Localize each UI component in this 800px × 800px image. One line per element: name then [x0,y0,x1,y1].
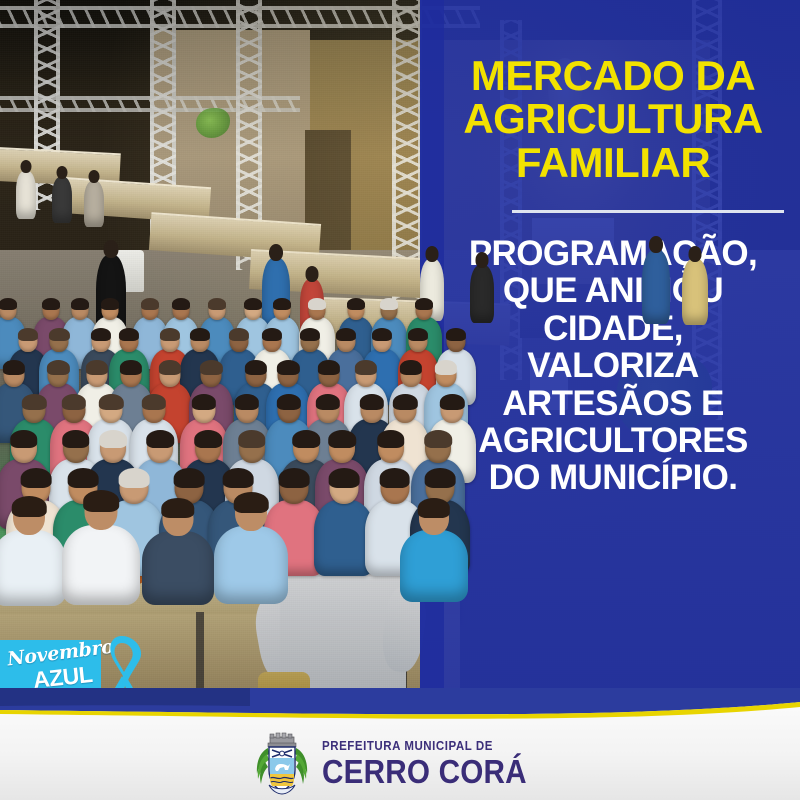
person-hair [194,430,222,448]
person-hair [415,298,433,310]
person-hair [141,298,159,310]
person-hair [200,360,222,375]
text-panel-content: MERCADO DAAGRICULTURAFAMILIAR PROGRAMAÇÃ… [420,0,800,712]
person-hair [347,298,365,310]
person-hair [91,328,111,341]
person-hair [119,360,141,375]
person-hair [262,328,282,341]
person-hair [3,360,25,375]
person-hair [355,360,377,375]
person-hair [0,298,17,310]
person-hair [100,430,128,448]
poster-root: MERCADO DAAGRICULTURAFAMILIAR PROGRAMAÇÃ… [0,0,800,800]
person-hair [418,498,450,518]
person-hair [234,492,269,513]
person-hair [68,468,99,488]
title-line-3: FAMILIAR [442,141,784,184]
person-torso [0,530,66,606]
person-hair [119,468,150,488]
body-line-6: AGRICULTORES [442,422,784,459]
market-visitor [682,246,708,325]
person-torso [142,531,214,605]
market-visitor [52,166,72,223]
person-hair [277,394,301,410]
person-hair [191,394,215,410]
person-hair [172,298,190,310]
logo-line-1: PREFEITURA MUNICIPAL DE [322,740,531,753]
person-hair [71,298,89,310]
person-hair [300,328,320,341]
person-hair [377,430,405,448]
front-row-person [400,500,468,602]
person-hair [119,328,139,341]
person-hair [22,394,46,410]
person-head [689,246,702,262]
body-line-7: DO MUNICÍPIO. [442,459,784,496]
person-torso [62,525,140,605]
person-hair [208,298,226,310]
front-row-person [214,494,288,604]
person-hair [18,328,38,341]
person-hair [47,360,69,375]
title-line-1: MERCADO DA [442,54,784,97]
person-hair [161,498,194,518]
person-hair [234,394,258,410]
person-hair [238,430,266,448]
person-hair [86,360,108,375]
person-hair [83,490,119,512]
person-hair [315,394,339,410]
person-hair [359,394,383,410]
market-visitor [642,236,670,324]
person-head [649,236,663,253]
person-hair [379,468,410,488]
person-torso [642,250,670,324]
market-visitor [470,252,494,323]
person-hair [329,430,357,448]
person-hair [244,298,262,310]
coat-of-arms-icon [251,732,313,796]
person-hair [445,328,465,341]
logo-line-2: CERRO CORÁ [322,755,527,788]
logo-wordmark: PREFEITURA MUNICIPAL DE CERRO CORÁ [322,740,550,788]
divider-rule [512,210,784,213]
person-hair [440,394,464,410]
person-hair [336,328,356,341]
person-hair [380,298,398,310]
person-hair [49,328,69,341]
person-hair [400,360,422,375]
person-torso [84,181,104,227]
person-hair [408,328,428,341]
person-hair [229,328,249,341]
person-hair [61,394,85,410]
person-torso [52,177,72,223]
person-hair [159,360,181,375]
person-hair [308,298,326,310]
person-hair [277,360,299,375]
person-hair [245,360,267,375]
prefeitura-logo: PREFEITURA MUNICIPAL DE CERRO CORÁ [0,731,800,797]
person-hair [329,468,360,488]
person-hair [372,328,392,341]
person-torso [682,259,708,325]
title-line-2: AGRICULTURA [442,97,784,140]
front-row-person [142,500,214,605]
person-torso [470,265,494,323]
body-line-4: VALORIZA [442,347,784,384]
front-row-person [62,492,140,605]
front-row-person [0,498,66,606]
person-head [269,244,283,261]
poster-title: MERCADO DAAGRICULTURAFAMILIAR [442,54,784,184]
person-head [306,266,319,282]
person-hair [10,430,38,448]
person-hair [12,496,47,517]
person-hair [223,468,254,488]
person-hair [393,394,417,410]
person-hair [174,468,205,488]
body-line-5: ARTESÃOS E [442,385,784,422]
person-torso [214,526,288,604]
person-hair [424,430,452,448]
market-visitor [84,170,104,227]
person-hair [146,430,174,448]
person-head [89,170,100,183]
person-head [57,166,68,179]
person-hair [99,394,123,410]
person-hair [318,360,340,375]
person-hair [273,298,291,310]
person-head [104,240,119,258]
person-hair [190,328,210,341]
person-torso [400,530,468,602]
market-visitor [16,160,36,219]
person-head [476,252,489,268]
person-hair [62,430,90,448]
person-torso [16,171,36,219]
person-hair [435,360,457,375]
person-hair [21,468,52,488]
person-hair [42,298,60,310]
person-head [21,160,32,173]
person-hair [279,468,310,488]
person-hair [425,468,456,488]
person-hair [142,394,166,410]
person-head [426,246,439,262]
person-hair [160,328,180,341]
person-hair [101,298,119,310]
